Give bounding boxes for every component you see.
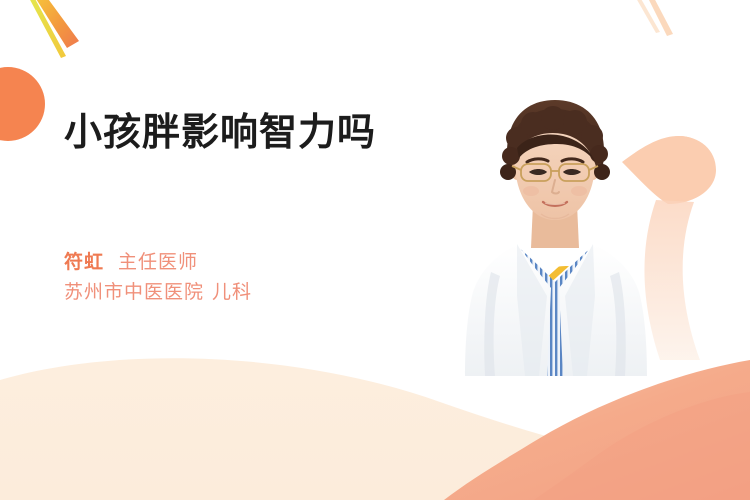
diagonal-strokes-light-shape: [636, 0, 673, 36]
doctor-name: 符虹: [64, 252, 104, 273]
diagonal-strokes-shape: [28, 0, 79, 58]
doctor-title: 主任医师: [118, 252, 198, 273]
doctor-byline: 符虹主任医师 苏州市中医医院儿科: [64, 248, 464, 308]
doctor-hospital: 苏州市中医医院: [64, 282, 204, 303]
doctor-video-cover-card: 小孩胖影响智力吗 符虹主任医师 苏州市中医医院儿科: [0, 0, 750, 500]
page-title: 小孩胖影响智力吗: [64, 108, 464, 158]
peach-wave-shape: [0, 358, 750, 500]
doctor-department: 儿科: [212, 282, 252, 303]
cover-text-block: 小孩胖影响智力吗 符虹主任医师 苏州市中医医院儿科: [64, 108, 464, 158]
orange-circle-shape: [0, 67, 45, 141]
doctor-name-row: 符虹主任医师: [64, 248, 464, 278]
doctor-affiliation-row: 苏州市中医医院儿科: [64, 278, 464, 308]
doctor-portrait: [455, 96, 655, 376]
salmon-wave-shape: [444, 360, 750, 500]
